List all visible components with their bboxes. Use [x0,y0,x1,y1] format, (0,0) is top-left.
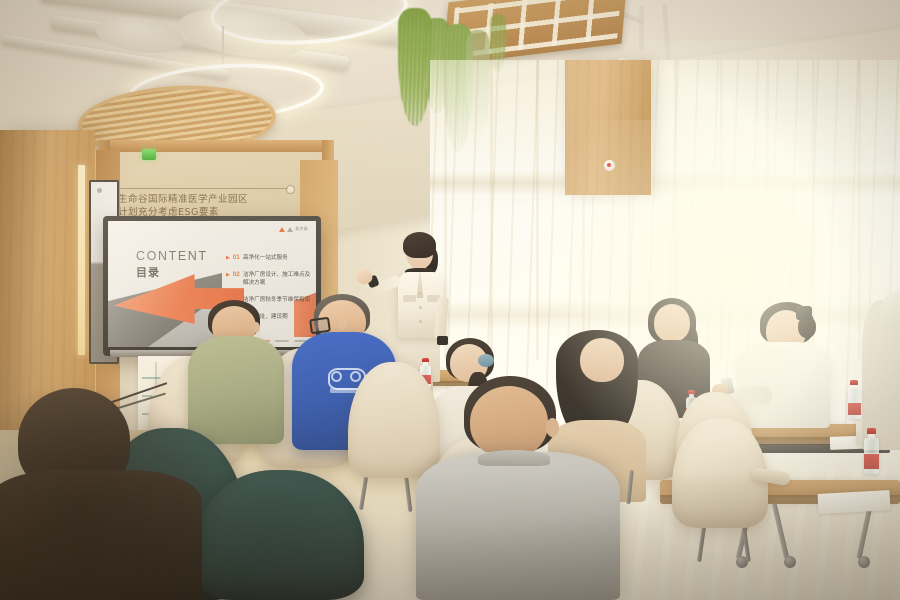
man-grey-sweatshirt-torso [416,452,620,600]
sign-frame [98,140,334,152]
sweatshirt-collar [478,450,550,466]
wood-column-right-shading [565,60,651,195]
jacket-pocket [403,295,416,302]
man-ear [546,418,559,437]
hair-clip-icon [796,306,812,320]
detector-led-icon [607,163,611,167]
jacket-button [419,292,422,295]
presenter-cuff [437,336,448,345]
man-ear [338,318,347,330]
sign-rule [118,188,288,189]
gamepad-stick-icon [350,371,361,382]
pendant-stem [222,26,224,68]
light-strip [78,165,85,355]
presenter-hair [403,232,436,258]
woman-head [654,304,690,342]
door-hardware-icon [97,188,102,193]
sign-dot [286,185,295,194]
table-caster [858,556,870,568]
jacket-button [419,306,422,309]
bottle-label [848,403,861,415]
table-caster [784,556,796,568]
gamepad-stick-icon [331,371,342,382]
exit-sign-icon [142,149,156,160]
man-head [470,386,548,458]
woman-head [580,338,624,382]
conference-room-photo: 生命谷国际精准医学产业园区 计划充分考虑ESG要素 麦克维 CONTENT 目录… [0,0,900,600]
man-ear [252,322,260,333]
paper-sheet [818,490,891,514]
hair-scrunchie-icon [478,354,494,367]
jacket-button [419,320,422,323]
foreground-shadow [0,380,230,600]
wall-sign-line-1: 生命谷国际精准医学产业园区 [118,191,248,205]
bottle-label [864,454,879,469]
woman-white-blouse-torso [738,342,830,428]
